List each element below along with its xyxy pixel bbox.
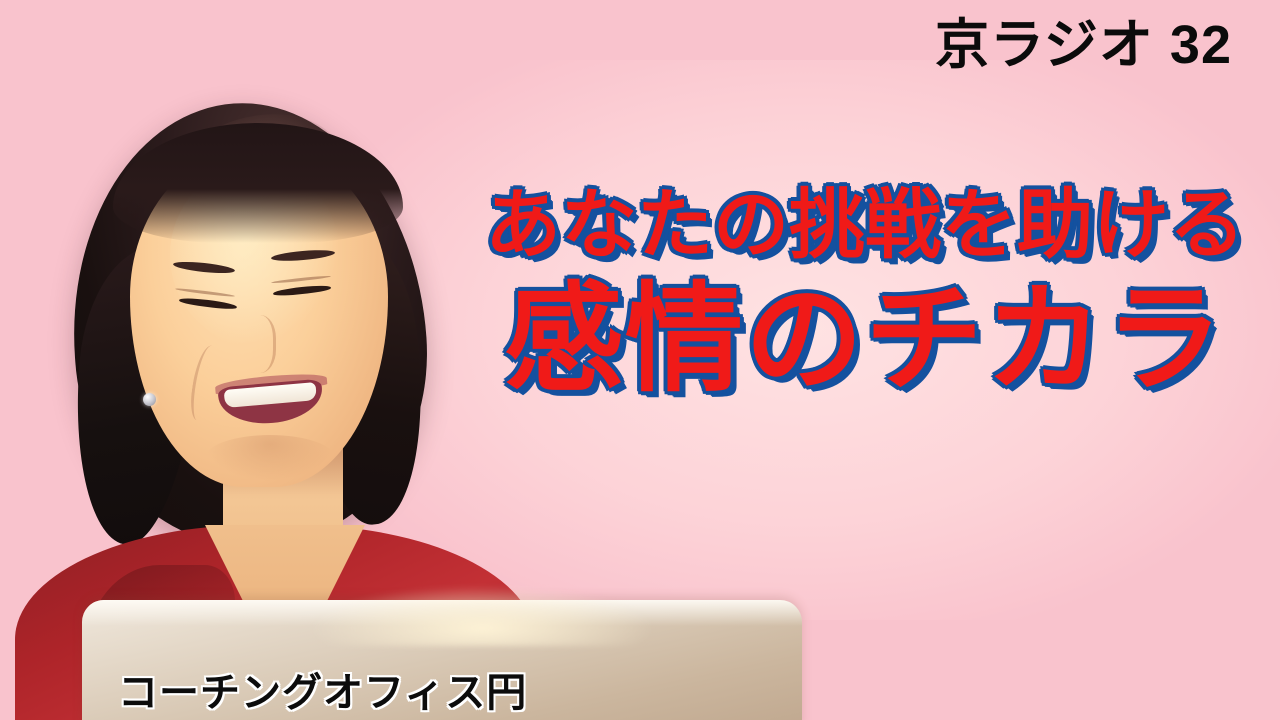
channel-name: コーチングオフィス円 xyxy=(118,660,527,718)
headline-block: あなたの挑戦を助ける 感情のチカラ xyxy=(470,186,1260,402)
laptop-screen-glow xyxy=(312,586,652,646)
series-title: 京ラジオ 32 xyxy=(935,12,1232,80)
headline-line-2: 感情のチカラ xyxy=(470,279,1260,402)
chin-shadow xyxy=(205,435,335,481)
teeth xyxy=(224,382,317,408)
thumbnail-canvas: 京ラジオ 32 あなたの挑戦を助ける 感情のチカラ コーチングオフィス円 xyxy=(0,0,1280,720)
headline-line-1: あなたの挑戦を助ける xyxy=(470,186,1260,265)
earring xyxy=(143,393,156,406)
nose xyxy=(237,315,276,373)
